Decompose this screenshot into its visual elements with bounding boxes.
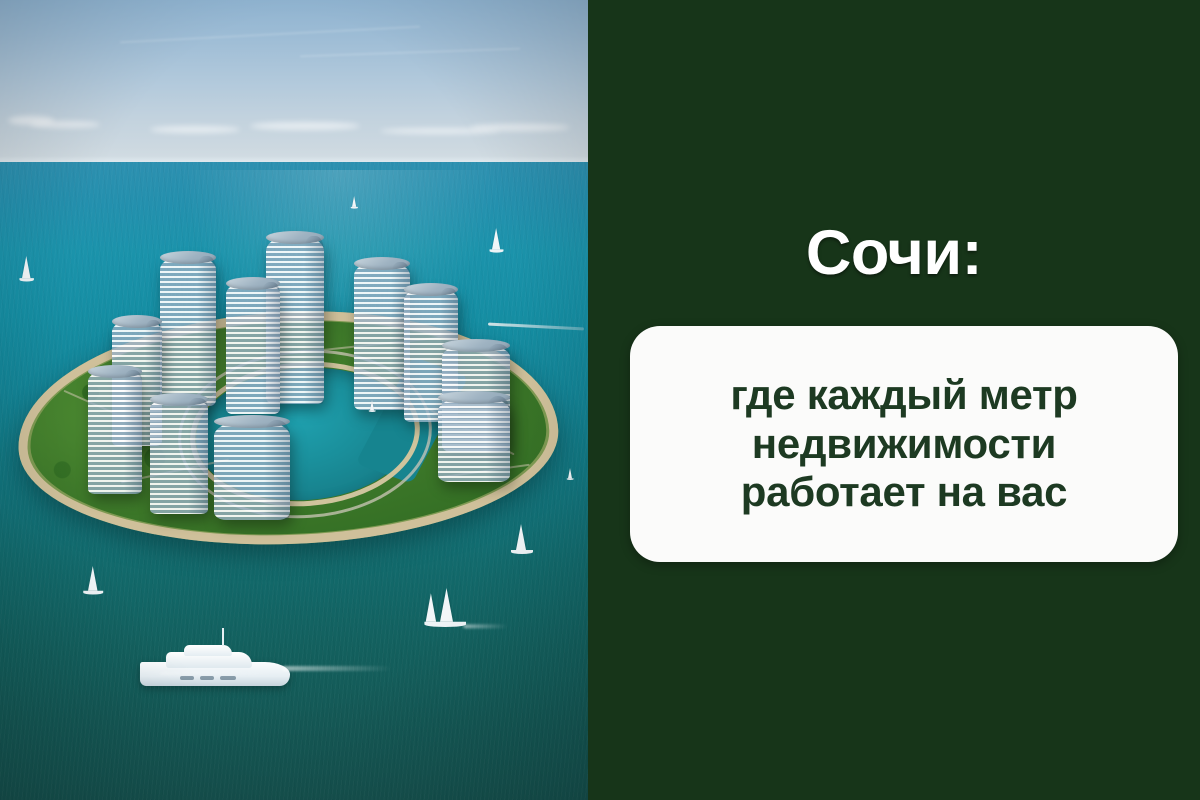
sailboat-hull [567, 478, 574, 480]
tower-roof [214, 415, 290, 428]
hero-photo [0, 0, 588, 800]
sailboat-sail [426, 593, 436, 622]
yacht-window [200, 676, 214, 680]
sailboat-hull [83, 591, 103, 595]
tower-roof [150, 393, 208, 406]
sailboat-hull [369, 410, 376, 412]
promo-banner: Сочи: где каждый метр недвижимости работ… [0, 0, 1200, 800]
island [0, 0, 588, 800]
tower [88, 370, 142, 494]
tower [438, 396, 510, 482]
yacht-window [220, 676, 236, 680]
highlight-line-3: работает на вас [644, 468, 1164, 517]
sailboat-sail [440, 588, 453, 622]
yacht-superstructure [184, 645, 232, 656]
sailboat-hull [424, 622, 466, 627]
tower [214, 420, 290, 520]
sailboat-sail [370, 400, 374, 410]
sailboat-hull [511, 550, 533, 554]
highlight-card: где каждый метр недвижимости работает на… [630, 326, 1178, 562]
sailboat-hull [351, 207, 358, 209]
highlight-line-2: недвижимости [644, 420, 1164, 469]
sailboat-sail [352, 196, 356, 207]
copy-panel: Сочи: где каждый метр недвижимости работ… [588, 0, 1200, 800]
yacht [140, 640, 290, 686]
tower [160, 256, 216, 406]
tower-roof [226, 277, 280, 290]
yacht-wake [160, 672, 280, 675]
tower [226, 282, 280, 414]
yacht-mast [222, 628, 224, 646]
yacht-window [180, 676, 194, 680]
tower-roof [112, 315, 162, 328]
tower-roof [438, 391, 510, 404]
tower [150, 398, 208, 514]
highlight-line-1: где каждый метр [644, 371, 1164, 420]
tower-roof [442, 339, 510, 352]
sailboat-sail [568, 468, 572, 478]
sailboat-hull [19, 278, 33, 281]
sailboat-sail [88, 566, 98, 591]
boat-wake [463, 624, 507, 628]
tower-roof [404, 283, 458, 296]
yacht-wake [282, 666, 392, 671]
tower [354, 262, 410, 410]
tower-roof [354, 257, 410, 270]
sailboat-hull [490, 249, 504, 252]
tower-roof [160, 251, 216, 264]
sailboat-sail [22, 256, 31, 278]
highlight-card-text: где каждый метр недвижимости работает на… [630, 371, 1178, 517]
tower-roof [88, 365, 142, 378]
tower-roof [266, 231, 324, 244]
page-title: Сочи: [588, 222, 1200, 285]
sailboat-sail [492, 228, 500, 249]
sailboat-sail [516, 524, 526, 550]
